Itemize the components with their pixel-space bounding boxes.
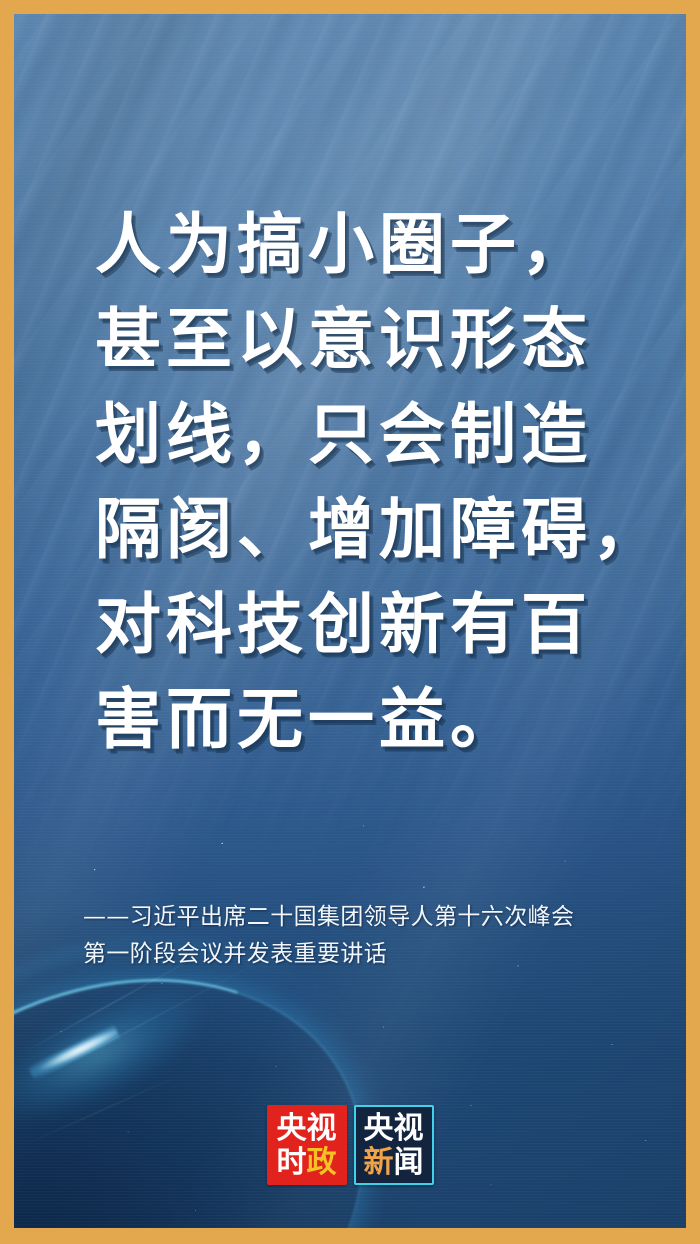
headline-line-6: 害而无一益。 [95, 672, 655, 767]
headline-quote: 人为搞小圈子， 甚至以意识形态 划线，只会制造 隔阂、增加障碍， 对科技创新有百… [95, 197, 655, 767]
logo-xinwen-char-4: 闻 [394, 1146, 424, 1180]
headline-line-3: 划线，只会制造 [95, 387, 655, 482]
attribution-source: ——习近平出席二十国集团领导人第十六次峰会 第一阶段会议并发表重要讲话 [83, 899, 653, 973]
logo-cctv-xinwen[interactable]: 央 视 新 闻 [354, 1105, 434, 1185]
logo-shizheng-char-1: 央 [277, 1112, 307, 1146]
logo-group: 央 视 时 政 央 视 新 闻 [14, 1105, 686, 1185]
logo-shizheng-top-row: 央 视 [277, 1112, 337, 1146]
logo-shizheng-bottom-row: 时 政 [277, 1146, 337, 1180]
attribution-line-2: 第一阶段会议并发表重要讲话 [83, 936, 653, 973]
logo-xinwen-char-2: 视 [394, 1112, 424, 1146]
poster-artboard: 人为搞小圈子， 甚至以意识形态 划线，只会制造 隔阂、增加障碍， 对科技创新有百… [14, 14, 686, 1228]
logo-cctv-shizheng[interactable]: 央 视 时 政 [267, 1105, 347, 1185]
logo-shizheng-char-2: 视 [307, 1112, 337, 1146]
logo-xinwen-char-1: 央 [364, 1112, 394, 1146]
headline-line-4: 隔阂、增加障碍， [95, 482, 655, 577]
headline-line-5: 对科技创新有百 [95, 577, 655, 672]
logo-shizheng-char-4: 政 [307, 1146, 337, 1180]
logo-xinwen-bottom-row: 新 闻 [364, 1146, 424, 1180]
attribution-line-1: ——习近平出席二十国集团领导人第十六次峰会 [83, 899, 653, 936]
logo-shizheng-char-3: 时 [277, 1146, 307, 1180]
headline-line-2: 甚至以意识形态 [95, 292, 655, 387]
headline-line-1: 人为搞小圈子， [95, 197, 655, 292]
logo-xinwen-char-3: 新 [364, 1146, 394, 1180]
poster-frame: 人为搞小圈子， 甚至以意识形态 划线，只会制造 隔阂、增加障碍， 对科技创新有百… [0, 0, 700, 1244]
logo-xinwen-top-row: 央 视 [364, 1112, 424, 1146]
